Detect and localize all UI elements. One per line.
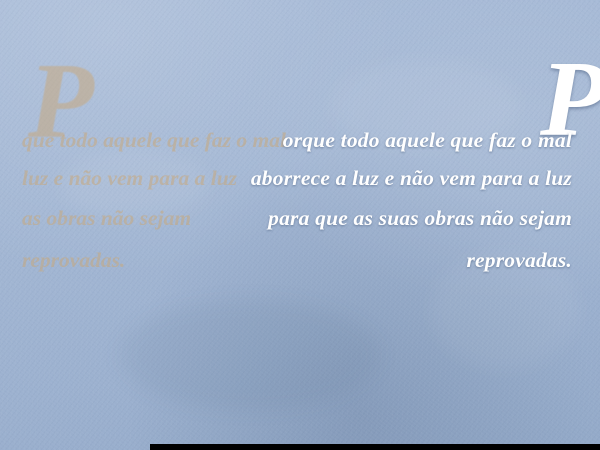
verse-line: para que as suas obras não sejam [0, 206, 600, 231]
verse-card: P que todo aquele que faz o mal luz e nã… [0, 0, 600, 450]
verse-quote-block: P que todo aquele que faz o mal luz e nã… [0, 0, 600, 370]
verse-line: orque todo aquele que faz o mal [0, 128, 600, 153]
verse-line: reprovadas. [0, 248, 600, 273]
bottom-black-bar [150, 444, 600, 450]
verse-line: aborrece a luz e não vem para a luz [0, 166, 600, 191]
card-footer: Bibliaon.com Bibliaon.com Versão Almeida… [0, 370, 600, 450]
